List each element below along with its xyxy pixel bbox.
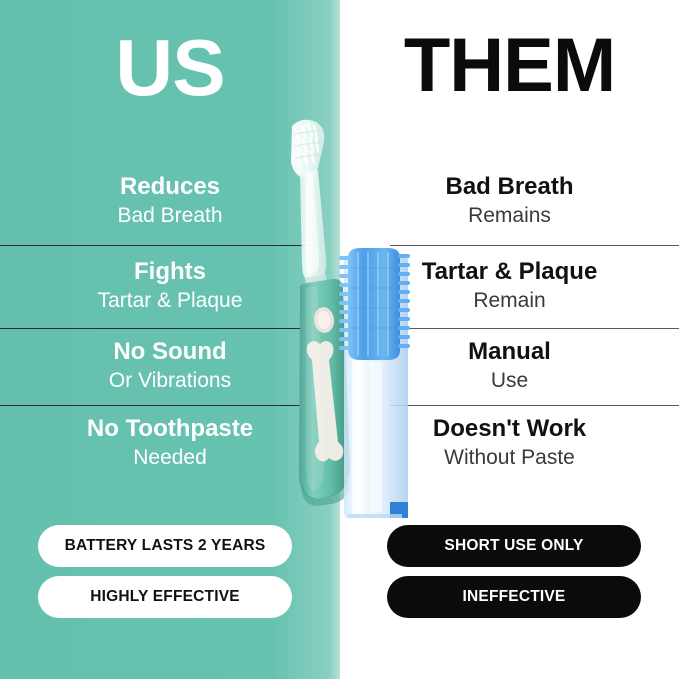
left-row-3: No Sound Or Vibrations <box>0 337 340 395</box>
divider-left-3 <box>0 405 318 406</box>
right-row-2-title: Tartar & Plaque <box>340 257 679 287</box>
left-row-2-sub: Tartar & Plaque <box>0 287 340 315</box>
right-row-1: Bad Breath Remains <box>340 172 679 230</box>
pill-ineffective[interactable]: INEFFECTIVE <box>387 576 641 618</box>
pill-short-use-only[interactable]: SHORT USE ONLY <box>387 525 641 567</box>
right-row-1-title: Bad Breath <box>340 172 679 202</box>
left-row-4-sub: Needed <box>0 444 340 472</box>
heading-them: THEM <box>340 28 679 104</box>
left-row-1-sub: Bad Breath <box>0 202 340 230</box>
right-row-3-sub: Use <box>340 367 679 395</box>
divider-right-3 <box>390 405 679 406</box>
pill-battery-lasts[interactable]: BATTERY LASTS 2 YEARS <box>38 525 292 567</box>
left-row-4: No Toothpaste Needed <box>0 414 340 472</box>
divider-right-2 <box>390 328 679 329</box>
divider-left-2 <box>0 328 318 329</box>
right-row-4: Doesn't Work Without Paste <box>340 414 679 472</box>
divider-left-1 <box>0 245 318 246</box>
left-row-2-title: Fights <box>0 257 340 287</box>
comparison-infographic: US THEM Reduces Bad Breath Fights Tartar… <box>0 0 679 679</box>
heading-us: US <box>0 28 340 108</box>
right-row-4-title: Doesn't Work <box>340 414 679 444</box>
left-row-1-title: Reduces <box>0 172 340 202</box>
right-row-3: Manual Use <box>340 337 679 395</box>
right-row-2-sub: Remain <box>340 287 679 315</box>
left-row-2: Fights Tartar & Plaque <box>0 257 340 315</box>
right-row-3-title: Manual <box>340 337 679 367</box>
left-row-1: Reduces Bad Breath <box>0 172 340 230</box>
pill-highly-effective[interactable]: HIGHLY EFFECTIVE <box>38 576 292 618</box>
divider-right-1 <box>390 245 679 246</box>
right-row-4-sub: Without Paste <box>340 444 679 472</box>
left-row-3-sub: Or Vibrations <box>0 367 340 395</box>
right-row-1-sub: Remains <box>340 202 679 230</box>
right-row-2: Tartar & Plaque Remain <box>340 257 679 315</box>
left-row-3-title: No Sound <box>0 337 340 367</box>
left-row-4-title: No Toothpaste <box>0 414 340 444</box>
